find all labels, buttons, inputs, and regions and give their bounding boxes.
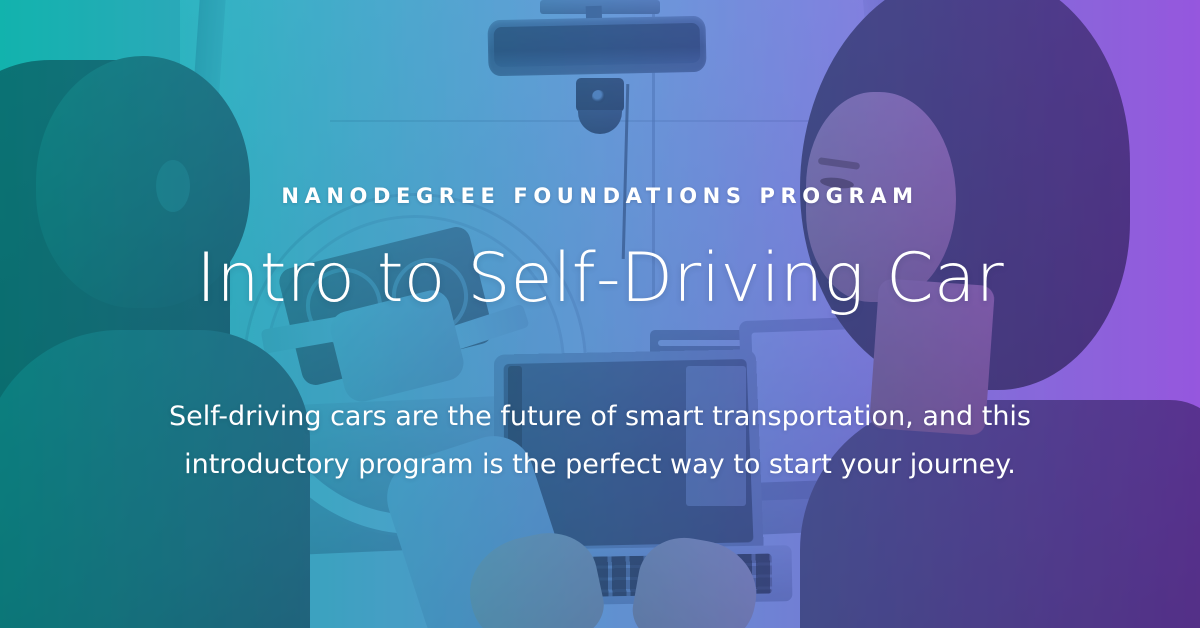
banner-description-line-2: introductory program is the perfect way …	[160, 441, 1040, 489]
banner-description: Self-driving cars are the future of smar…	[160, 393, 1040, 489]
banner-content: NANODEGREE FOUNDATIONS PROGRAM Intro to …	[0, 0, 1200, 628]
page-title: Intro to Self-Driving Car	[196, 245, 1004, 313]
program-eyebrow: NANODEGREE FOUNDATIONS PROGRAM	[281, 186, 918, 207]
banner-description-line-1: Self-driving cars are the future of smar…	[160, 393, 1040, 441]
hero-banner: NANODEGREE FOUNDATIONS PROGRAM Intro to …	[0, 0, 1200, 628]
